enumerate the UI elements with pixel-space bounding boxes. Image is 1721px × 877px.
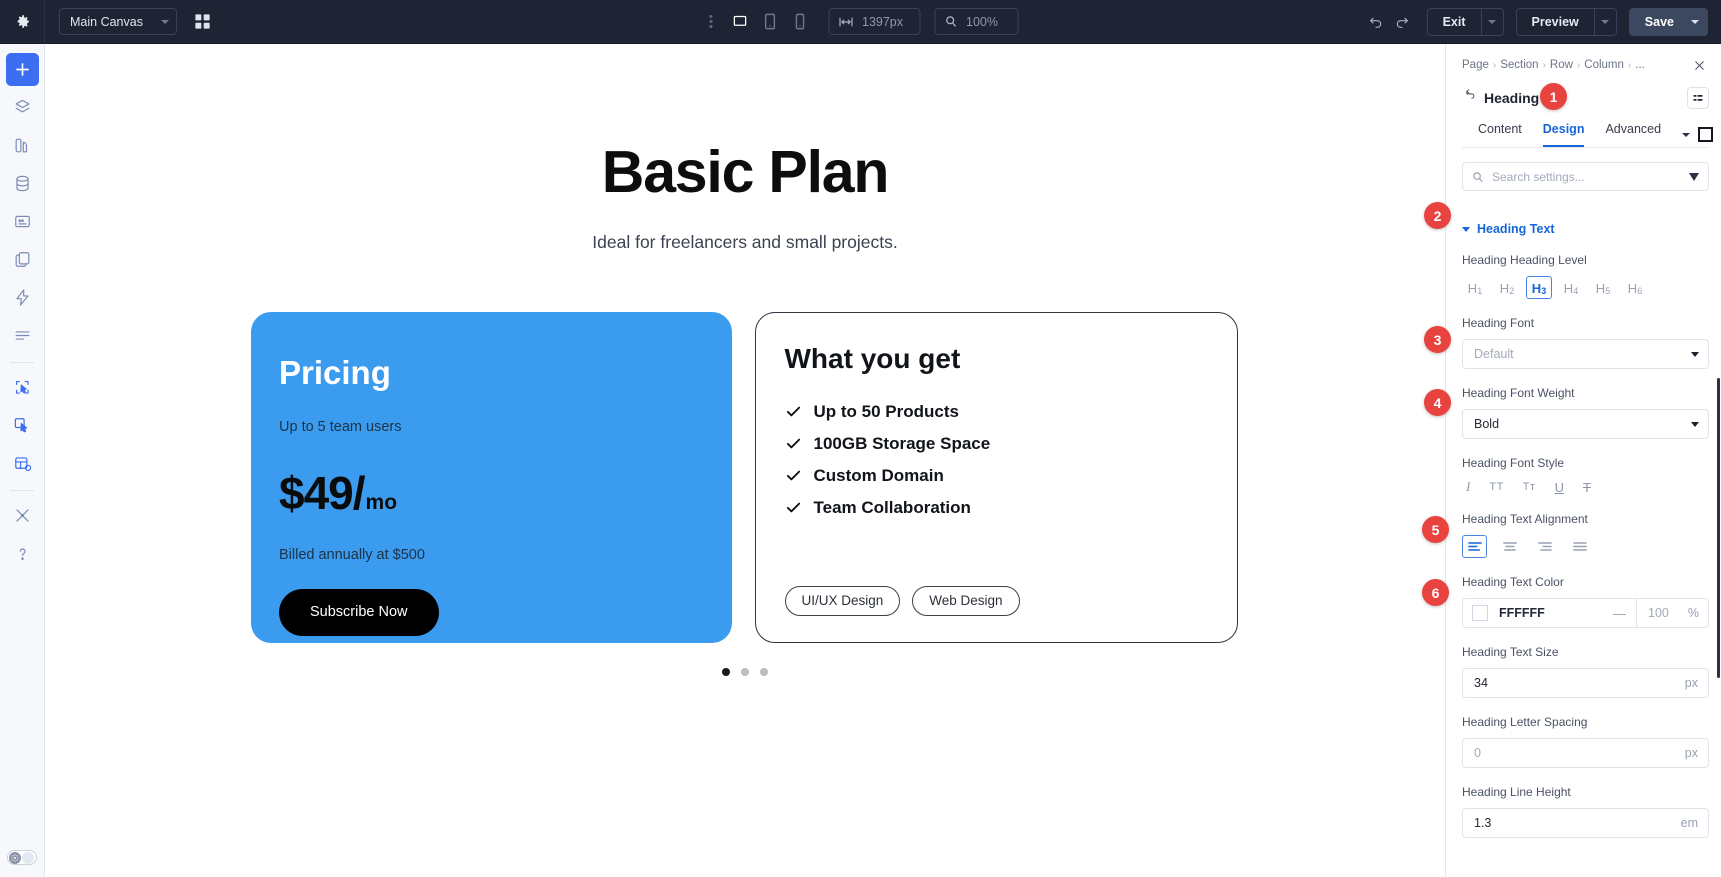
align-right-icon[interactable] [1532,535,1557,558]
text-size-value: 34 [1474,676,1685,690]
tab-design[interactable]: Design [1543,122,1585,147]
redo-icon[interactable] [1389,9,1415,35]
save-dropdown-icon[interactable] [1688,8,1708,36]
rail-item-design-library[interactable] [6,129,39,162]
panel-header: Page › Section › Row › Column › ... [1446,44,1721,148]
top-actions: Exit Preview Save [1363,8,1721,36]
preview-label: Preview [1517,9,1594,35]
breadcrumb-item-section[interactable]: Section [1500,59,1538,71]
text-alignment-group [1462,535,1709,558]
align-left-icon[interactable] [1462,535,1487,558]
color-opacity-input[interactable]: 100 % [1636,599,1708,627]
font-style-capitalize-icon[interactable]: Tᴛ [1523,481,1536,493]
field-label: Heading Font Weight [1462,386,1709,400]
device-tablet-button[interactable] [755,7,785,37]
rail-item-data-source[interactable] [6,167,39,200]
rail-item-select-multiple[interactable] [6,409,39,442]
field-heading-line-height: Heading Line Height 1.3 em [1462,785,1709,838]
close-icon[interactable] [1689,55,1709,75]
grid-icon[interactable] [192,11,214,33]
field-heading-font-weight: Heading Font Weight Bold [1462,386,1709,439]
page-content: Basic Plan Ideal for freelancers and sma… [45,44,1445,676]
heading-level-h6[interactable]: H6 [1622,276,1648,299]
rail-item-layers[interactable] [6,91,39,124]
annotation-badge-6: 6 [1422,579,1449,606]
rail-divider [10,362,34,363]
heading-level-h1[interactable]: H1 [1462,276,1488,299]
rail-item-help[interactable] [6,537,39,570]
rail-item-interactions[interactable] [6,281,39,314]
panel-tabs: Content Design Advanced [1462,122,1709,148]
canvas-selector[interactable]: Main Canvas [59,8,177,35]
align-center-icon[interactable] [1497,535,1522,558]
heading-level-h4[interactable]: H4 [1558,276,1584,299]
zoom-value: 100% [966,15,998,29]
color-opacity-unit: % [1688,606,1699,620]
viewport-width-input[interactable]: 1397px [828,8,920,35]
exit-label: Exit [1428,9,1481,35]
annotation-badge-4: 4 [1424,389,1451,416]
list-item: Custom Domain [785,466,1238,486]
panel-scrollbar[interactable] [1717,378,1720,678]
heading-level-group: H1 H2 H3 H4 H5 H6 [1462,276,1709,299]
rail-item-layout-tool[interactable] [6,447,39,480]
feature-label: Custom Domain [814,466,944,486]
tab-content[interactable]: Content [1478,122,1522,147]
heading-level-h3[interactable]: H3 [1526,276,1552,299]
rail-item-select-element[interactable] [6,371,39,404]
rail-mode-toggle[interactable] [7,850,37,865]
carousel-dot-2[interactable] [741,668,749,676]
color-swatch[interactable] [1472,605,1488,621]
pricing-billed: Billed annually at $500 [279,547,732,563]
panel-title-row: Heading [1462,87,1709,109]
tabs-extra [1682,127,1713,147]
rail-item-settings-list[interactable] [6,319,39,352]
breadcrumb-item-page[interactable]: Page [1462,59,1489,71]
gear-toggle-icon [9,852,21,864]
color-dash: — [1613,606,1626,621]
field-label: Heading Text Size [1462,645,1709,659]
field-label: Heading Text Alignment [1462,512,1709,526]
viewport-width-value: 1397px [862,15,903,29]
check-icon [785,403,802,420]
rail-item-tools[interactable] [6,499,39,532]
heading-level-h2[interactable]: H2 [1494,276,1520,299]
breadcrumb-item-more[interactable]: ... [1635,59,1645,71]
breadcrumb-separator: › [1493,60,1496,71]
more-options-icon[interactable] [703,15,719,28]
subscribe-button[interactable]: Subscribe Now [279,589,439,636]
chevron-down-icon [1691,352,1699,357]
field-heading-text-alignment: Heading Text Alignment [1462,512,1709,558]
feature-label: Team Collaboration [814,498,971,518]
device-desktop-button[interactable] [725,7,755,37]
color-opacity-value: 100 [1648,606,1669,620]
section-heading-text[interactable]: Heading Text [1462,222,1709,236]
font-style-italic-icon[interactable]: I [1466,479,1470,495]
letter-spacing-value: 0 [1474,746,1685,760]
exit-dropdown-icon[interactable] [1481,9,1503,35]
heading-text-size-input[interactable]: 34 px [1462,668,1709,698]
search-settings-row[interactable] [1462,162,1709,191]
features-list: Up to 50 Products 100GB Storage Space Cu… [785,402,1238,518]
font-style-group: I TT Tᴛ U T [1462,479,1709,495]
settings-panel: Page › Section › Row › Column › ... [1445,44,1721,877]
tag-chip[interactable]: Web Design [912,586,1019,616]
field-label: Heading Font Style [1462,456,1709,470]
responsive-icon[interactable] [1687,87,1709,109]
list-item: Up to 50 Products [785,402,1238,422]
field-heading-font: Heading Font Default [1462,316,1709,369]
field-label: Heading Text Color [1462,575,1709,589]
back-arrow-icon[interactable] [1462,89,1475,107]
search-icon [1472,171,1484,183]
undo-icon[interactable] [1363,9,1389,35]
box-model-icon[interactable] [1698,127,1713,142]
heading-letter-spacing-input[interactable]: 0 px [1462,738,1709,768]
pricing-unit: mo [366,491,398,515]
field-heading-level: Heading Heading Level H1 H2 H3 H4 H5 H6 [1462,253,1709,299]
workspace: Basic Plan Ideal for freelancers and sma… [0,44,1721,877]
rail-item-add-element[interactable] [6,53,39,86]
heading-level-h5[interactable]: H5 [1590,276,1616,299]
viewport-controls: 1397px 100% [703,7,1018,37]
chevron-down-icon[interactable] [1682,133,1690,137]
field-heading-text-color: Heading Text Color FFFFFF — 100 % [1462,575,1709,628]
tab-advanced[interactable]: Advanced [1605,122,1661,147]
chevron-down-icon [1691,422,1699,427]
rail-divider-2 [10,490,34,491]
feature-label: 100GB Storage Space [814,434,991,454]
canvas-name: Main Canvas [70,15,143,29]
annotation-badge-1: 1 [1540,83,1567,110]
field-label: Heading Line Height [1462,785,1709,799]
page-subtitle[interactable]: Ideal for freelancers and small projects… [45,232,1445,253]
features-card[interactable]: What you get Up to 50 Products 100GB Sto… [755,312,1239,643]
page-title[interactable]: Basic Plan [45,140,1445,205]
breadcrumb-separator: › [1577,60,1580,71]
field-heading-font-style: Heading Font Style I TT Tᴛ U T [1462,456,1709,495]
chevron-down-icon [161,20,169,24]
rail-item-pages[interactable] [6,243,39,276]
field-label: Heading Letter Spacing [1462,715,1709,729]
preview-button[interactable]: Preview [1516,8,1617,36]
heading-text-color-row[interactable]: FFFFFF — 100 % [1462,598,1709,628]
exit-button[interactable]: Exit [1427,8,1504,36]
check-icon [785,499,802,516]
gear-icon[interactable] [0,0,45,44]
heading-font-weight-value: Bold [1474,417,1691,431]
line-height-unit: em [1681,816,1698,830]
preview-dropdown-icon[interactable] [1594,9,1616,35]
pricing-amount: $49/ mo [279,466,732,520]
search-input[interactable] [1492,170,1681,184]
font-style-underline-icon[interactable]: U [1555,480,1564,495]
device-mobile-button[interactable] [785,7,815,37]
text-size-unit: px [1685,676,1698,690]
carousel-dot-3[interactable] [760,668,768,676]
check-icon [785,435,802,452]
filter-icon[interactable] [1689,173,1699,181]
field-label: Heading Heading Level [1462,253,1709,267]
letter-spacing-unit: px [1685,746,1698,760]
save-button[interactable]: Save [1629,8,1708,36]
left-rail [0,44,45,877]
annotation-badge-2: 2 [1424,202,1451,229]
heading-line-height-input[interactable]: 1.3 em [1462,808,1709,838]
breadcrumb-separator: › [1628,60,1631,71]
carousel-dots [45,668,1445,676]
pricing-users: Up to 5 team users [279,419,732,435]
pricing-card[interactable]: Pricing Up to 5 team users $49/ mo Bille… [251,312,732,643]
align-justify-icon[interactable] [1567,535,1592,558]
line-height-value: 1.3 [1474,816,1681,830]
list-item: Team Collaboration [785,498,1238,518]
font-style-strikethrough-icon[interactable]: T [1583,480,1591,495]
annotation-badge-5: 5 [1422,516,1449,543]
save-label: Save [1629,8,1688,36]
panel-scroll-area[interactable]: Heading Text Heading Heading Level H1 H2… [1446,148,1721,877]
font-style-uppercase-icon[interactable]: TT [1489,481,1503,493]
design-canvas[interactable]: Basic Plan Ideal for freelancers and sma… [45,44,1445,877]
carousel-dot-1[interactable] [722,668,730,676]
rail-item-forms[interactable] [6,205,39,238]
features-heading[interactable]: What you get [785,343,1238,375]
app-root: Main Canvas 1397px 100% [0,0,1721,877]
pricing-heading[interactable]: Pricing [279,354,732,392]
heading-font-weight-select[interactable]: Bold [1462,409,1709,439]
check-icon [785,467,802,484]
field-label: Heading Font [1462,316,1709,330]
heading-font-select[interactable]: Default [1462,339,1709,369]
annotation-badge-3: 3 [1424,326,1451,353]
feature-label: Up to 50 Products [814,402,959,422]
breadcrumb-separator: › [1543,60,1546,71]
zoom-input[interactable]: 100% [934,8,1018,35]
panel-title: Heading [1484,90,1539,106]
field-heading-text-size: Heading Text Size 34 px [1462,645,1709,698]
tag-chip[interactable]: UI/UX Design [785,586,901,616]
breadcrumb: Page › Section › Row › Column › ... [1462,55,1709,75]
heading-font-value: Default [1474,347,1691,361]
top-toolbar: Main Canvas 1397px 100% [0,0,1721,44]
color-hex-value[interactable]: FFFFFF [1499,606,1613,620]
tags-row: UI/UX Design Web Design [785,586,1238,616]
field-heading-letter-spacing: Heading Letter Spacing 0 px [1462,715,1709,768]
section-label: Heading Text [1477,222,1555,236]
breadcrumb-item-row[interactable]: Row [1550,59,1573,71]
cards-row: Pricing Up to 5 team users $49/ mo Bille… [45,312,1445,643]
chevron-down-icon [1462,227,1470,232]
breadcrumb-item-column[interactable]: Column [1584,59,1624,71]
pricing-value: $49/ [279,466,365,520]
toggle-knob [22,852,34,864]
list-item: 100GB Storage Space [785,434,1238,454]
